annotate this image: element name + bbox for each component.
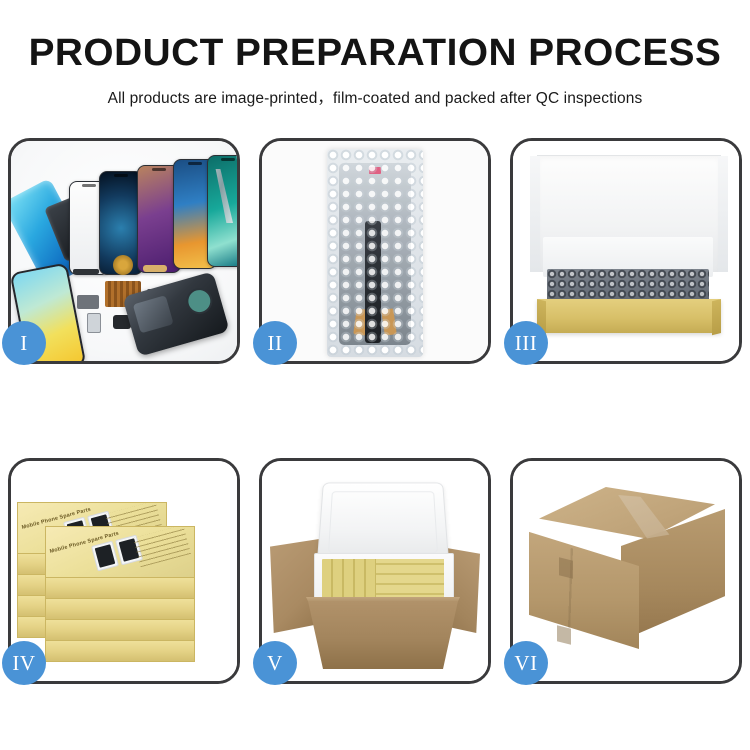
panel-1-image xyxy=(11,141,237,361)
process-step-grid: I II III xyxy=(8,138,742,684)
page-header: PRODUCT PREPARATION PROCESS All products… xyxy=(0,0,750,108)
panel-3-image xyxy=(513,141,739,361)
flex-cable-icon xyxy=(143,265,167,272)
foam-lid-icon xyxy=(317,482,449,563)
phone-notch-icon xyxy=(82,184,96,187)
phone-notch-icon xyxy=(152,168,166,171)
carton-mark-lower xyxy=(557,625,571,644)
qc-sticker-icon xyxy=(369,167,381,174)
step-badge-2: II xyxy=(253,321,297,365)
step-badge-5: V xyxy=(253,641,297,685)
step-badge-6: VI xyxy=(504,641,548,685)
retail-box xyxy=(45,619,195,641)
process-step-panel-4[interactable]: Mobile Phone Spare Parts Mobile Phone Sp… xyxy=(8,458,240,684)
carton-mark-upper xyxy=(559,557,573,578)
phone-notch-icon xyxy=(114,174,128,177)
retail-box xyxy=(45,598,195,620)
phone-teal-icon xyxy=(207,155,237,267)
cardboard-carton-icon xyxy=(308,601,458,669)
screen-thumbnail-icon xyxy=(91,541,119,572)
process-step-panel-6[interactable]: VI xyxy=(510,458,742,684)
retail-box xyxy=(45,577,195,599)
page-subtitle: All products are image-printed，film-coat… xyxy=(0,86,750,108)
retail-box-lid: Mobile Phone Spare Parts xyxy=(45,526,195,578)
process-step-panel-1[interactable]: I xyxy=(8,138,240,364)
process-step-panel-5[interactable]: V xyxy=(259,458,491,684)
bubble-wrap-layer-icon xyxy=(547,269,709,303)
antenna-bar-icon xyxy=(73,269,99,274)
flex-cable-left-icon xyxy=(353,308,369,335)
phone-notch-icon xyxy=(221,158,235,161)
phone-notch-icon xyxy=(188,162,202,165)
lcd-screen-assembly-icon xyxy=(339,163,411,345)
step-badge-3: III xyxy=(504,321,548,365)
bubble-wrap-bag-icon xyxy=(327,149,423,357)
step-badge-1: I xyxy=(2,321,46,365)
speaker-coil-icon xyxy=(113,255,133,275)
panel-6-image xyxy=(513,461,739,681)
step-badge-4: IV xyxy=(2,641,46,685)
connector-icon xyxy=(77,295,99,309)
battery-icon xyxy=(87,313,101,333)
yellow-box-tray-icon xyxy=(537,299,721,333)
panel-4-image: Mobile Phone Spare Parts Mobile Phone Sp… xyxy=(11,461,237,681)
flex-cable-right-icon xyxy=(381,308,397,335)
kraft-carton-icon xyxy=(529,487,725,659)
process-step-panel-3[interactable]: III xyxy=(510,138,742,364)
process-step-panel-2[interactable]: II xyxy=(259,138,491,364)
label-text-lines xyxy=(133,526,191,567)
panel-2-image xyxy=(262,141,488,361)
page-title: PRODUCT PREPARATION PROCESS xyxy=(0,34,750,72)
box-stack-front: Mobile Phone Spare Parts xyxy=(45,527,195,662)
yellow-boxes-packed-icon xyxy=(322,559,444,603)
panel-5-image xyxy=(262,461,488,681)
retail-box xyxy=(45,640,195,662)
